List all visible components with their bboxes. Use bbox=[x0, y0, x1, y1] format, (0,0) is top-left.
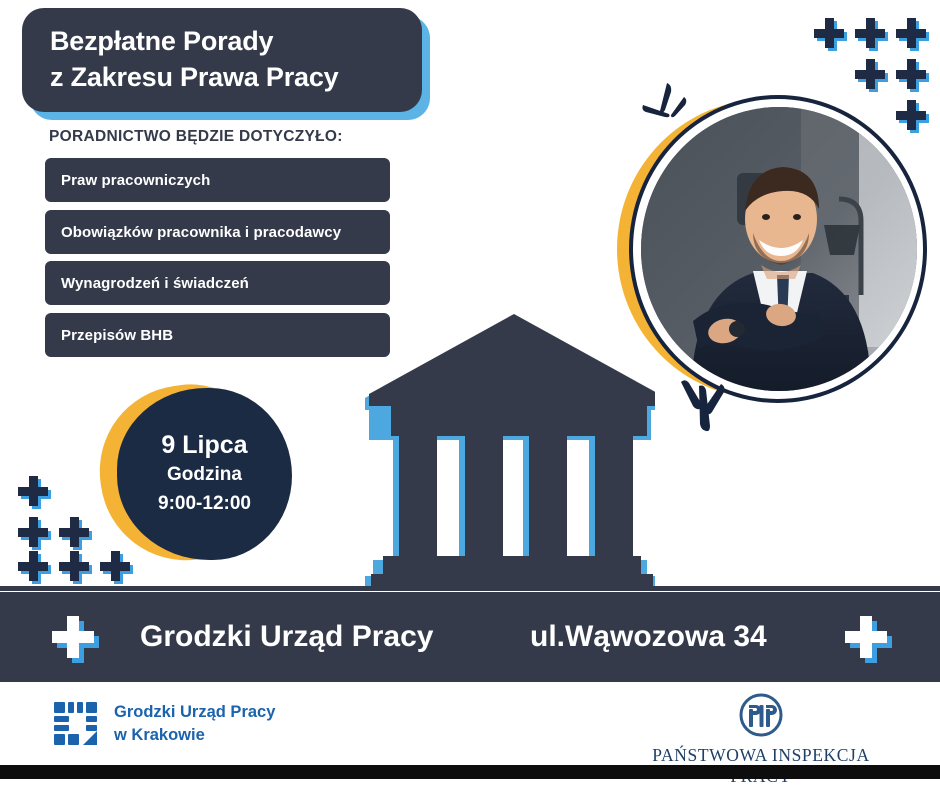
gup-logo-text: Grodzki Urząd Pracy w Krakowie bbox=[114, 701, 275, 747]
gup-logo: Grodzki Urząd Pracy w Krakowie bbox=[52, 700, 275, 748]
plus-decoration-icon bbox=[59, 517, 89, 547]
sparkle-burst-icon bbox=[661, 370, 741, 432]
footer-divider-rule bbox=[0, 586, 940, 591]
plus-decoration-icon bbox=[52, 616, 94, 658]
photo-circle bbox=[617, 95, 927, 405]
bottom-black-bar bbox=[0, 765, 940, 779]
pip-logo-mark-icon bbox=[738, 692, 784, 738]
plus-decoration-icon bbox=[59, 551, 89, 581]
poster-canvas: Bezpłatne Porady z Zakresu Prawa Pracy P… bbox=[0, 0, 940, 788]
plus-decoration-icon bbox=[18, 476, 48, 506]
plus-decoration-icon bbox=[18, 551, 48, 581]
topic-item: Praw pracowniczych bbox=[45, 158, 390, 202]
plus-decoration-icon bbox=[855, 59, 885, 89]
plus-decoration-icon bbox=[100, 551, 130, 581]
photo-image bbox=[641, 107, 917, 391]
gup-logo-mark-icon bbox=[52, 700, 100, 748]
logo-strip: Grodzki Urząd Pracy w Krakowie PAŃSTWOWA… bbox=[0, 682, 940, 762]
topic-item: Przepisów BHB bbox=[45, 313, 390, 357]
title-line-1: Bezpłatne Porady bbox=[50, 26, 273, 56]
footer-office-name: Grodzki Urząd Pracy bbox=[140, 620, 433, 654]
title-box: Bezpłatne Porady z Zakresu Prawa Pracy bbox=[22, 8, 422, 112]
gup-logo-line-1: Grodzki Urząd Pracy bbox=[114, 701, 275, 724]
temple-building-icon bbox=[365, 312, 655, 587]
footer-band: Grodzki Urząd Pracy ul.Wąwozowa 34 bbox=[0, 592, 940, 682]
title-line-2: z Zakresu Prawa Pracy bbox=[50, 62, 338, 92]
plus-decoration-icon bbox=[855, 18, 885, 48]
plus-decoration-icon bbox=[896, 59, 926, 89]
topic-item: Wynagrodzeń i świadczeń bbox=[45, 261, 390, 305]
gup-logo-line-2: w Krakowie bbox=[114, 724, 275, 747]
plus-decoration-icon bbox=[845, 616, 887, 658]
date-badge: 9 Lipca Godzina 9:00-12:00 bbox=[117, 388, 292, 560]
portrait-illustration bbox=[641, 107, 917, 391]
date-hours: 9:00-12:00 bbox=[158, 490, 251, 519]
subtitle-label: PORADNICTWO BĘDZIE DOTYCZYŁO: bbox=[49, 128, 343, 146]
date-hour-label: Godzina bbox=[167, 461, 242, 490]
page-title: Bezpłatne Porady z Zakresu Prawa Pracy bbox=[50, 24, 338, 96]
topic-item: Obowiązków pracownika i pracodawcy bbox=[45, 210, 390, 254]
sparkle-burst-icon bbox=[627, 81, 697, 141]
footer-address: ul.Wąwozowa 34 bbox=[530, 620, 767, 654]
plus-decoration-icon bbox=[18, 517, 48, 547]
plus-decoration-icon bbox=[896, 18, 926, 48]
plus-decoration-icon bbox=[814, 18, 844, 48]
plus-decoration-icon bbox=[896, 100, 926, 130]
date-day: 9 Lipca bbox=[161, 430, 247, 461]
